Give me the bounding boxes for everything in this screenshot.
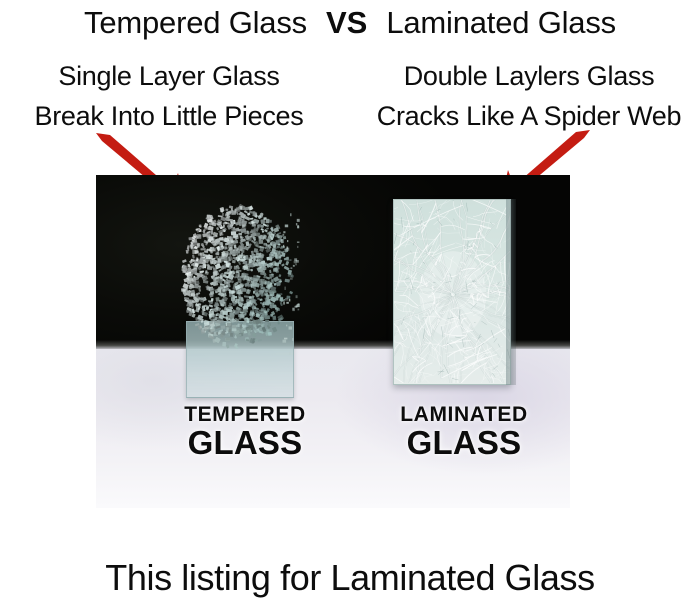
caption-tempered-line-1: Single Layer Glass [58, 56, 279, 96]
caption-column-tempered: Single Layer Glass Break Into Little Pie… [0, 56, 350, 140]
laminated-glass-pane [393, 199, 511, 385]
caption-laminated-line-1: Double Laylers Glass [404, 56, 655, 96]
laminated-glass-specimen [393, 199, 511, 385]
headline-right-term: Laminated Glass [386, 7, 616, 38]
caption-row: Single Layer Glass Break Into Little Pie… [0, 56, 700, 140]
tempered-glass-specimen [178, 203, 300, 396]
comparison-photo: TEMPERED GLASS LAMINATED GLASS [96, 175, 570, 508]
caption-column-laminated: Double Laylers Glass Cracks Like A Spide… [350, 56, 700, 140]
headline-left-term: Tempered Glass [84, 7, 307, 38]
photo-label-laminated: LAMINATED GLASS [349, 403, 570, 460]
photo-label-tempered-big: GLASS [130, 426, 360, 460]
photo-label-tempered: TEMPERED GLASS [130, 403, 360, 460]
photo-label-tempered-small: TEMPERED [130, 403, 360, 426]
photo-label-laminated-big: GLASS [349, 426, 570, 460]
headline-vs-separator: VS [307, 7, 386, 38]
photo-label-laminated-small: LAMINATED [349, 403, 570, 426]
tempered-glass-fragments [178, 203, 300, 363]
caption-tempered-line-2: Break Into Little Pieces [35, 96, 304, 136]
caption-laminated-line-2: Cracks Like A Spider Web [377, 96, 681, 136]
footer-listing-note: This listing for Laminated Glass [105, 560, 594, 596]
footer: This listing for Laminated Glass [0, 552, 700, 604]
headline: Tempered Glass VS Laminated Glass [0, 0, 700, 44]
laminated-glass-crack-web [394, 200, 510, 383]
